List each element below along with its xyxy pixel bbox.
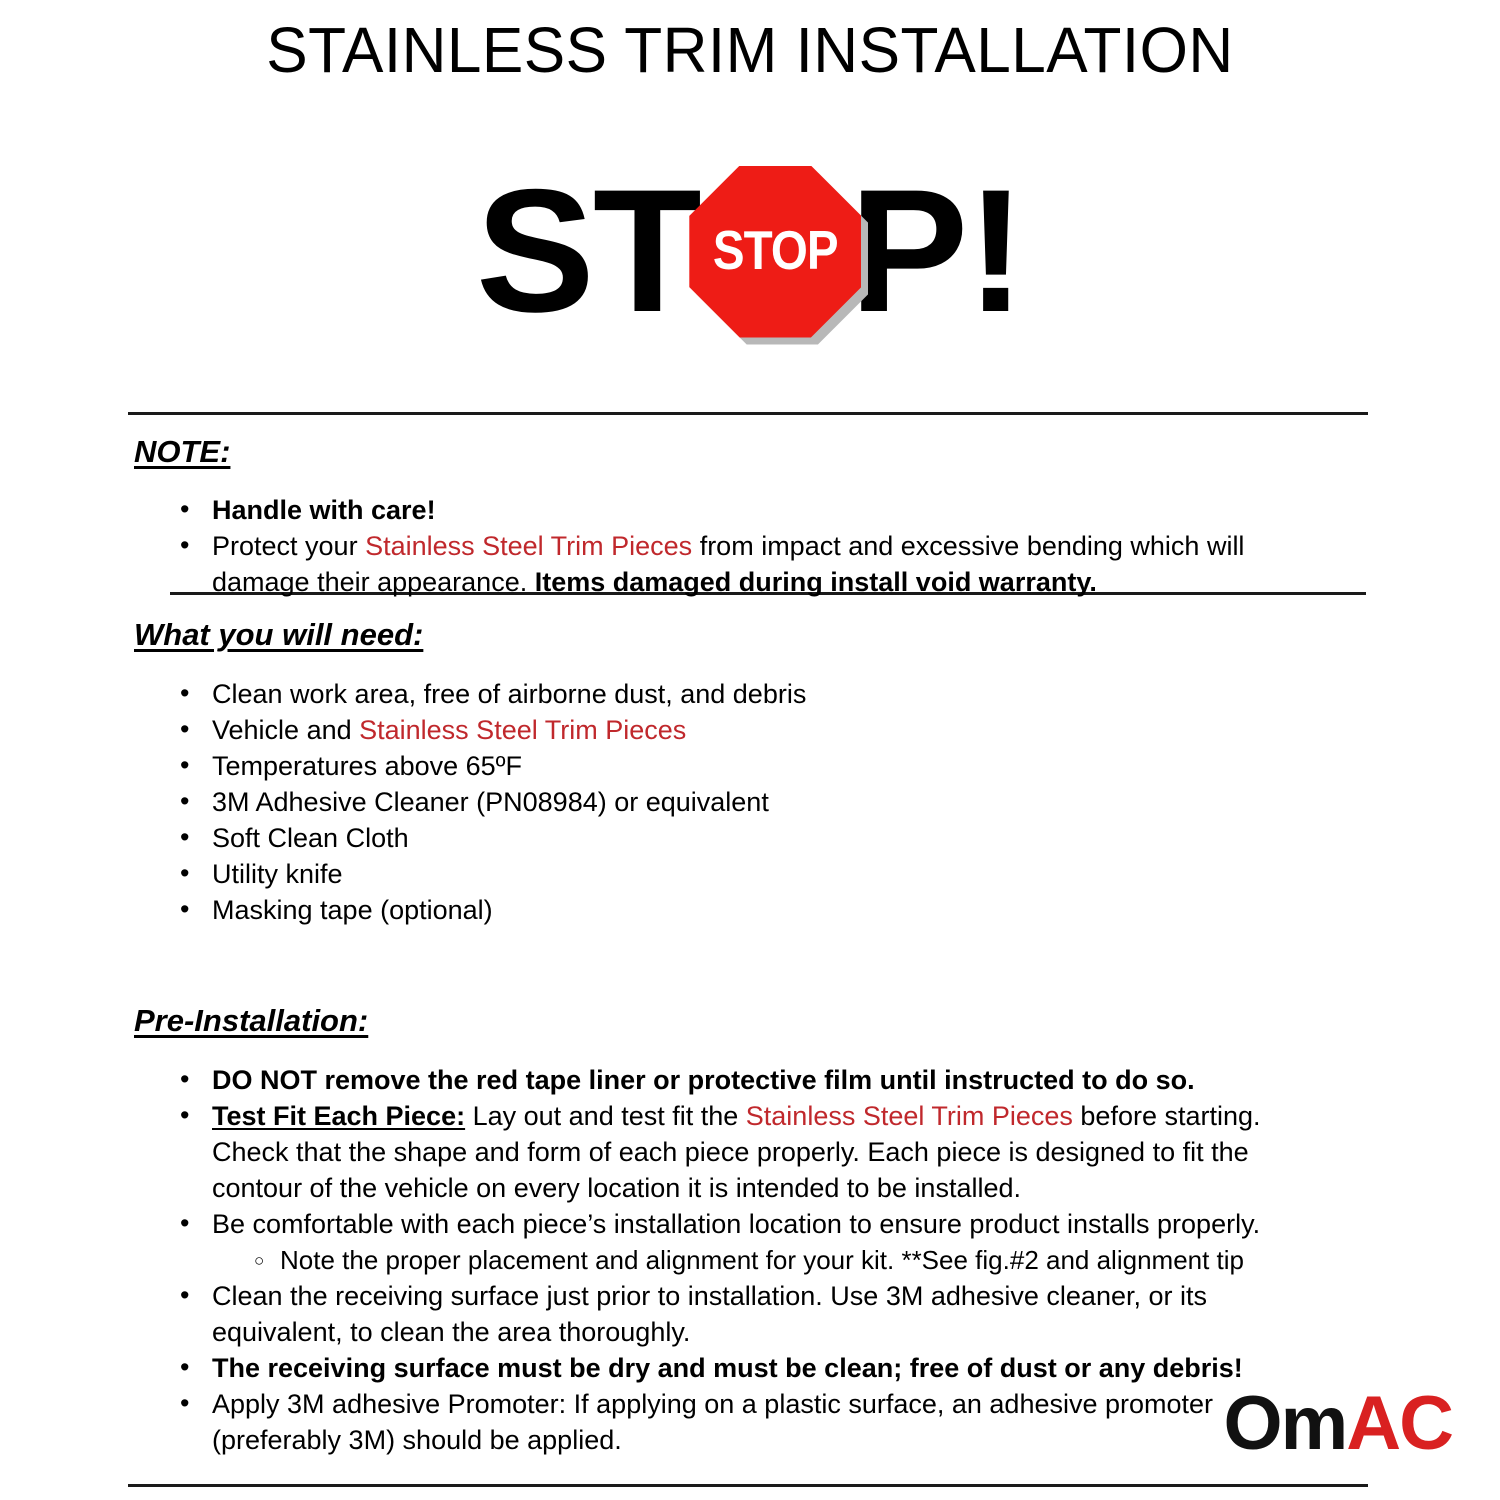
list-item-text: Test Fit Each Piece:	[212, 1101, 465, 1131]
list-item: Clean the receiving surface just prior t…	[180, 1278, 1340, 1350]
list-item: Be comfortable with each piece’s install…	[180, 1206, 1340, 1278]
page-title: STAINLESS TRIM INSTALLATION	[23, 0, 1478, 82]
list-item-text: Clean the receiving surface just prior t…	[212, 1281, 1207, 1347]
section-heading-pre-installation: Pre-Installation:	[134, 1003, 368, 1039]
section-heading-what-you-will-need: What you will need:	[134, 617, 423, 653]
stop-sign-octagon: STOP	[689, 166, 861, 338]
list-item-text: Soft Clean Cloth	[212, 823, 409, 853]
list-item: Test Fit Each Piece: Lay out and test fi…	[180, 1098, 1340, 1206]
need-bullet-list: Clean work area, free of airborne dust, …	[180, 676, 1290, 928]
divider-bottom	[128, 1484, 1368, 1487]
list-item: Handle with care!	[180, 492, 1290, 528]
pre-installation-bullet-list: DO NOT remove the red tape liner or prot…	[180, 1062, 1340, 1458]
stop-left-letters: ST	[475, 169, 699, 334]
list-item-text: Lay out and test fit the	[465, 1101, 746, 1131]
list-item-text: Items damaged during install void warran…	[535, 567, 1097, 597]
list-item-text: Stainless Steel Trim Pieces	[365, 531, 692, 561]
list-item: Apply 3M adhesive Promoter: If applying …	[180, 1386, 1340, 1458]
stop-graphic: ST STOP P!	[0, 144, 1500, 359]
note-bullet-list: Handle with care!Protect your Stainless …	[180, 492, 1290, 600]
list-item-text: Be comfortable with each piece’s install…	[212, 1209, 1260, 1239]
list-item: Vehicle and Stainless Steel Trim Pieces	[180, 712, 1290, 748]
list-item-text: Apply 3M adhesive Promoter: If applying …	[212, 1389, 1213, 1455]
list-item-text: DO NOT remove the red tape liner or prot…	[212, 1065, 1195, 1095]
list-item: 3M Adhesive Cleaner (PN08984) or equival…	[180, 784, 1290, 820]
list-item-text: The receiving surface must be dry and mu…	[212, 1353, 1243, 1383]
list-item-text: 3M Adhesive Cleaner (PN08984) or equival…	[212, 787, 769, 817]
list-item: The receiving surface must be dry and mu…	[180, 1350, 1340, 1386]
list-item-text: Masking tape (optional)	[212, 895, 493, 925]
stop-sign-icon: STOP	[689, 166, 861, 338]
list-item-text: Temperatures above 65ºF	[212, 751, 522, 781]
list-item-text: Vehicle and	[212, 715, 359, 745]
list-item: Clean work area, free of airborne dust, …	[180, 676, 1290, 712]
list-item: Soft Clean Cloth	[180, 820, 1290, 856]
sub-list-item: Note the proper placement and alignment …	[212, 1242, 1340, 1278]
sub-bullet-list: Note the proper placement and alignment …	[212, 1242, 1340, 1278]
list-item-text: Utility knife	[212, 859, 343, 889]
omac-logo: Om AC	[1224, 1386, 1452, 1462]
list-item-text: Stainless Steel Trim Pieces	[746, 1101, 1073, 1131]
stop-sign-label: STOP	[713, 224, 838, 279]
list-item: Utility knife	[180, 856, 1290, 892]
list-item-text: Clean work area, free of airborne dust, …	[212, 679, 806, 709]
divider-top	[128, 412, 1368, 415]
omac-logo-dark-part: Om	[1224, 1386, 1347, 1462]
list-item-text: Handle with care!	[212, 495, 436, 525]
omac-logo-red-part: AC	[1346, 1386, 1452, 1462]
stop-right-letters: P!	[850, 169, 1024, 334]
list-item: Masking tape (optional)	[180, 892, 1290, 928]
section-heading-note: NOTE:	[134, 434, 230, 470]
list-item-text: Stainless Steel Trim Pieces	[359, 715, 686, 745]
list-item: DO NOT remove the red tape liner or prot…	[180, 1062, 1340, 1098]
list-item: Protect your Stainless Steel Trim Pieces…	[180, 528, 1290, 600]
list-item-text: Protect your	[212, 531, 365, 561]
list-item: Temperatures above 65ºF	[180, 748, 1290, 784]
